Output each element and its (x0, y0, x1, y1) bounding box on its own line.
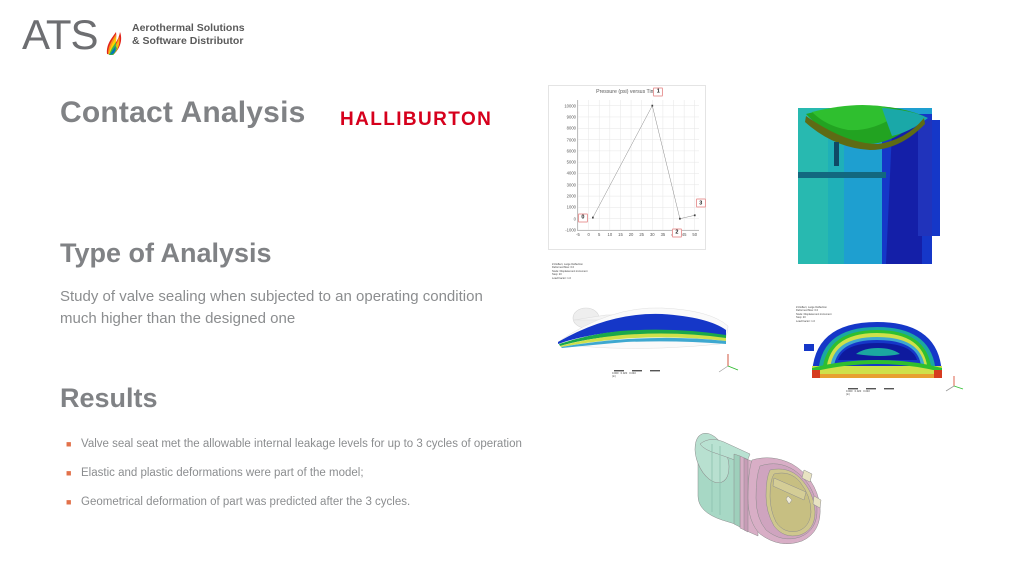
figure-valve-body-contour (782, 86, 962, 266)
y-axis-tick-label: 3000 (567, 182, 576, 187)
figure-valve-assembly-cad (688, 408, 868, 553)
list-item-text: Elastic and plastic deformations were pa… (81, 465, 536, 482)
flame-icon (104, 22, 124, 56)
chart-gridlines (578, 100, 699, 230)
x-axis-tick-label: 45 (682, 232, 687, 237)
y-axis-tick-label: 1000 (567, 205, 576, 210)
x-axis-tick-label: 30 (650, 232, 655, 237)
section-heading-type-of-analysis: Type of Analysis (60, 238, 272, 269)
figure-side-deflection: Z-Deflect, Large Deflection Deformed Max… (550, 260, 746, 388)
side-deflection-caption: Z-Deflect, Large Deflection Deformed Max… (552, 263, 587, 280)
list-item-text: Valve seal seat met the allowable intern… (81, 436, 536, 453)
page-title: Contact Analysis (60, 96, 306, 130)
bullet-square-icon: ■ (66, 465, 81, 482)
x-axis-tick-label: 25 (639, 232, 644, 237)
section-heading-results: Results (60, 383, 158, 414)
dome-deflection-caption: Z-Deflect, Large Deflection Deformed Max… (796, 306, 831, 323)
ats-logo-tagline: Aerothermal Solutions & Software Distrib… (132, 22, 245, 48)
client-logo-halliburton: HALLIBURTON (340, 109, 492, 131)
y-axis-tick-label: 9000 (567, 114, 576, 119)
ats-logo-mark: ATS (22, 10, 126, 60)
ats-logo: ATS Aerothermal Solutions & Software Dis… (22, 8, 252, 62)
y-axis-tick-label: -1000 (565, 228, 576, 233)
y-axis-tick-label: 8000 (567, 126, 576, 131)
ats-logo-letters: ATS (22, 11, 98, 58)
chart-svg (578, 100, 699, 230)
x-axis-tick-label: 5 (598, 232, 600, 237)
y-axis-tick-label: 7000 (567, 137, 576, 142)
x-axis-tick-label: 15 (618, 232, 623, 237)
y-axis-tick-label: 4000 (567, 171, 576, 176)
list-item: ■ Geometrical deformation of part was pr… (66, 494, 536, 511)
type-of-analysis-description: Study of valve sealing when subjected to… (60, 286, 490, 330)
x-axis-tick-label: 20 (629, 232, 634, 237)
dome-deflection-scale: 0.000 0.020 0.040 (in) (846, 390, 870, 396)
chart-point-label: 3 (696, 199, 706, 208)
list-item: ■ Valve seal seat met the allowable inte… (66, 436, 536, 453)
valve-body-contour-svg (782, 86, 962, 266)
y-axis-tick-label: 2000 (567, 194, 576, 199)
y-axis-tick-label: 0 (574, 216, 576, 221)
chart-plot-area: -100001000200030004000500060007000800090… (577, 100, 699, 231)
chart-point-label: 2 (672, 228, 682, 237)
pressure-time-chart: Pressure (psi) versus Time -100001000200… (548, 85, 706, 250)
chart-title: Pressure (psi) versus Time (549, 89, 705, 95)
x-axis-tick-label: 10 (607, 232, 612, 237)
x-axis-tick-label: 0 (587, 232, 589, 237)
y-axis-tick-label: 10000 (564, 103, 576, 108)
side-deflection-scale: 0.000 0.020 0.040 (in) (612, 372, 636, 378)
y-axis-tick-label: 5000 (567, 160, 576, 165)
x-axis-tick-label: 50 (692, 232, 697, 237)
list-item: ■ Elastic and plastic deformations were … (66, 465, 536, 482)
y-axis-tick-label: 6000 (567, 148, 576, 153)
chart-point-label: 0 (578, 213, 588, 222)
chart-point-label: 1 (653, 87, 663, 96)
x-axis-tick-label: 35 (661, 232, 666, 237)
figure-dome-deflection: Z-Deflect, Large Deflection Deformed Max… (782, 296, 972, 398)
valve-assembly-svg (688, 408, 868, 553)
bullet-square-icon: ■ (66, 436, 81, 453)
x-axis-tick-label: -5 (576, 232, 580, 237)
bullet-square-icon: ■ (66, 494, 81, 511)
list-item-text: Geometrical deformation of part was pred… (81, 494, 536, 511)
results-bullet-list: ■ Valve seal seat met the allowable inte… (66, 436, 536, 523)
